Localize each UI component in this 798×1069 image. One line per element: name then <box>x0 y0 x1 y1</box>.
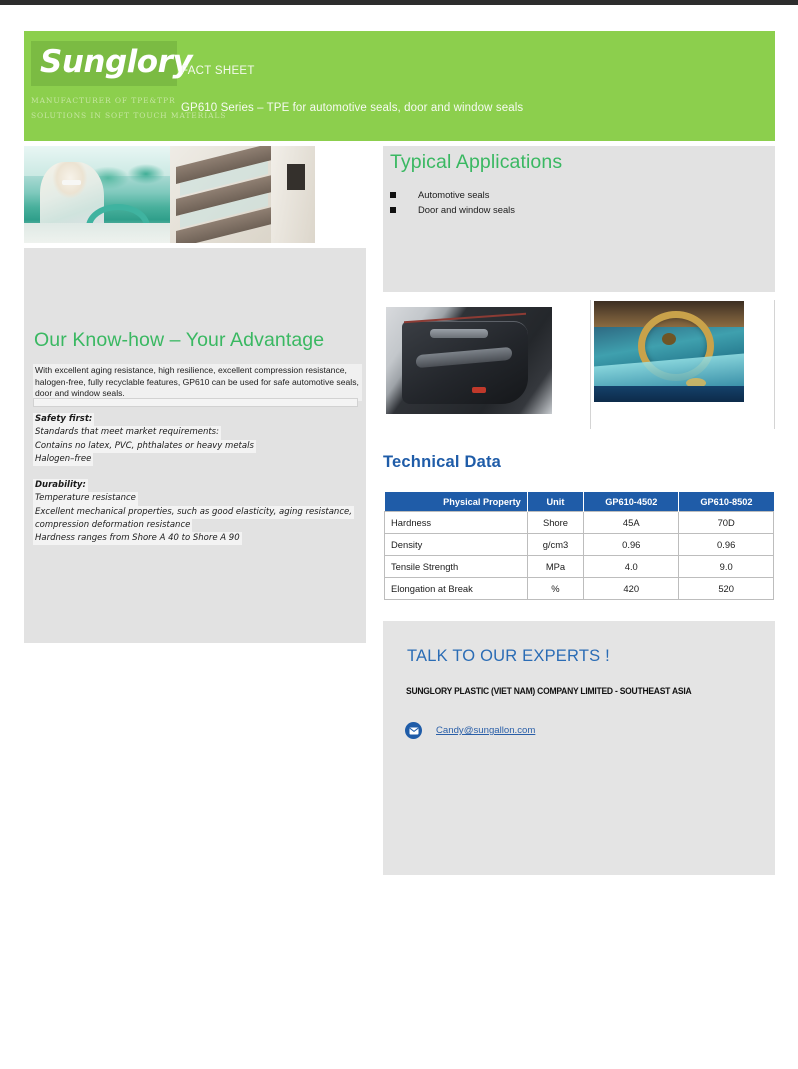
cell-gp610-4502: 45A <box>584 512 679 534</box>
column-header-gp610-4502: GP610-4502 <box>584 492 679 512</box>
photo-divider <box>774 300 775 429</box>
logo-mark: Sunglory <box>31 41 177 86</box>
durability-line: Excellent mechanical properties, such as… <box>33 506 354 519</box>
cell-gp610-4502: 4.0 <box>584 556 679 578</box>
cell-unit: MPa <box>527 556 583 578</box>
durability-heading: Durability: <box>33 479 88 492</box>
page-header: Sunglory MANUFACTURER OF TPE&TPR SOLUTIO… <box>24 31 775 141</box>
photo-bonnet <box>594 386 744 402</box>
durability-line: compression deformation resistance <box>33 519 192 532</box>
table-row: Hardness Shore 45A 70D <box>385 512 774 534</box>
photo-door-handle <box>430 329 488 338</box>
left-photo-strip <box>24 146 315 243</box>
durability-line: Temperature resistance <box>33 492 138 505</box>
page-title: GP610 Series – TPE for automotive seals,… <box>181 102 523 114</box>
photo-vintage-car-steering-wheel <box>594 301 744 402</box>
fact-sheet-page: Sunglory MANUFACTURER OF TPE&TPR SOLUTIO… <box>0 5 798 1069</box>
cell-gp610-8502: 9.0 <box>679 556 774 578</box>
applications-list: Automotive seals Door and window seals <box>390 187 515 217</box>
cell-unit: Shore <box>527 512 583 534</box>
logo-wordmark: Sunglory <box>40 44 192 80</box>
safety-line: Contains no latex, PVC, phthalates or he… <box>33 440 256 453</box>
contact-company-name: SUNGLORY PLASTIC (VIET NAM) COMPANY LIMI… <box>406 686 691 696</box>
cell-gp610-4502: 0.96 <box>584 534 679 556</box>
cell-unit: g/cm3 <box>527 534 583 556</box>
list-item: Door and window seals <box>390 202 515 217</box>
cell-property: Density <box>385 534 528 556</box>
contact-title: TALK TO OUR EXPERTS ! <box>407 647 610 666</box>
column-header-physical-property: Physical Property <box>385 492 528 512</box>
cell-property: Elongation at Break <box>385 578 528 600</box>
durability-line: Hardness ranges from Shore A 40 to Shore… <box>33 532 242 545</box>
knowhow-divider <box>33 398 358 407</box>
photo-divider <box>590 300 591 429</box>
brand-tagline: MANUFACTURER OF TPE&TPR SOLUTIONS IN SOF… <box>31 93 177 123</box>
list-item: Automotive seals <box>390 187 515 202</box>
cell-unit: % <box>527 578 583 600</box>
right-photo-row <box>383 298 775 429</box>
photo-sunglasses <box>62 180 81 185</box>
brand-logo: Sunglory MANUFACTURER OF TPE&TPR SOLUTIO… <box>31 41 177 123</box>
column-header-unit: Unit <box>527 492 583 512</box>
cell-gp610-8502: 70D <box>679 512 774 534</box>
table-header-row: Physical Property Unit GP610-4502 GP610-… <box>385 492 774 512</box>
photo-building-tower <box>271 146 315 243</box>
safety-line: Standards that meet market requirements: <box>33 426 221 439</box>
safety-line: Halogen–free <box>33 453 93 466</box>
brand-tagline-line-1: MANUFACTURER OF TPE&TPR <box>31 93 177 108</box>
brand-tagline-line-2: SOLUTIONS IN SOFT TOUCH MATERIALS <box>31 108 177 123</box>
cell-gp610-8502: 520 <box>679 578 774 600</box>
column-header-gp610-8502: GP610-8502 <box>679 492 774 512</box>
technical-data-table: Physical Property Unit GP610-4502 GP610-… <box>384 492 774 600</box>
photo-dashboard <box>24 223 170 243</box>
photo-car-door-interior-panel <box>386 307 552 414</box>
durability-block: Durability: Temperature resistance Excel… <box>33 479 354 545</box>
header-kicker: FACT SHEET <box>181 65 255 77</box>
table-row: Tensile Strength MPa 4.0 9.0 <box>385 556 774 578</box>
cell-property: Tensile Strength <box>385 556 528 578</box>
applications-title: Typical Applications <box>390 151 562 174</box>
mail-envelope-icon <box>405 722 422 739</box>
table-row: Density g/cm3 0.96 0.96 <box>385 534 774 556</box>
photo-building-window <box>287 164 305 190</box>
contact-email-link[interactable]: Candy@sungallon.com <box>436 725 535 736</box>
contact-panel: TALK TO OUR EXPERTS ! SUNGLORY PLASTIC (… <box>383 621 775 875</box>
safety-block: Safety first: Standards that meet market… <box>33 413 256 466</box>
cell-property: Hardness <box>385 512 528 534</box>
contact-email-row[interactable]: Candy@sungallon.com <box>405 722 535 739</box>
cell-gp610-4502: 420 <box>584 578 679 600</box>
table-row: Elongation at Break % 420 520 <box>385 578 774 600</box>
photo-wheel-hub <box>662 333 676 345</box>
knowhow-body-text: With excellent aging resistance, high re… <box>33 364 362 401</box>
knowhow-panel: Our Know-how – Your Advantage With excel… <box>24 248 366 643</box>
photo-door-reflector <box>472 387 486 393</box>
photo-woman-driving-vintage-car <box>24 146 170 243</box>
knowhow-title: Our Know-how – Your Advantage <box>34 329 324 352</box>
safety-heading: Safety first: <box>33 413 94 426</box>
cell-gp610-8502: 0.96 <box>679 534 774 556</box>
applications-panel: Typical Applications Automotive seals Do… <box>383 146 775 292</box>
photo-building-balcony-facade <box>170 146 315 243</box>
technical-data-title: Technical Data <box>383 453 501 472</box>
